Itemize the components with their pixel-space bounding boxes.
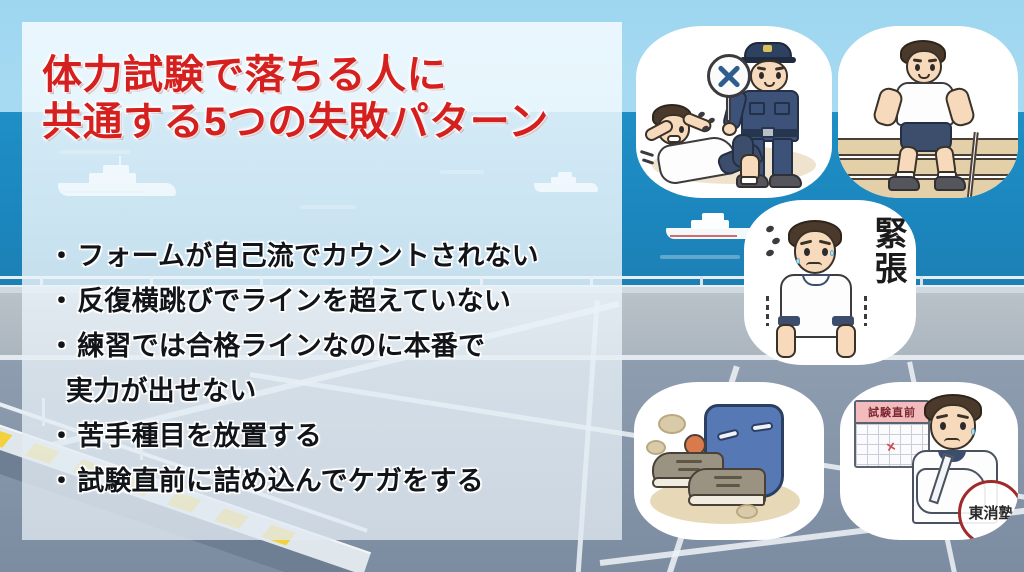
student-head [930, 404, 976, 450]
title-line-2: 共通する5つの失敗パターン [42, 99, 612, 146]
bullet-marker: ・ [48, 421, 75, 451]
sweat-drop [765, 225, 775, 234]
student-eye [940, 422, 946, 430]
officer-eye [759, 72, 764, 79]
list-item-continuation: 実力が出せない [48, 369, 628, 414]
officer-eye [776, 72, 781, 79]
uniform-pocket [774, 102, 790, 115]
bullet-marker: ・ [48, 286, 75, 316]
student-shirt [896, 82, 954, 126]
sweat-drop [765, 249, 775, 258]
gym-floor-band [838, 158, 1018, 176]
student-shoe [888, 176, 920, 191]
boat-cabin [702, 213, 723, 221]
sweat-drop [707, 117, 715, 124]
student-eye [930, 64, 935, 71]
poster-canvas: 体力試験で落ちる人に 共通する5つの失敗パターン ・フォームが自己流でカウントさ… [0, 0, 1024, 572]
page-title: 体力試験で落ちる人に 共通する5つの失敗パターン [42, 52, 612, 146]
frown-mouth [944, 438, 960, 442]
list-item-label: 練習では合格ラインなのに本番で [77, 331, 485, 361]
x-sign-handle [726, 96, 731, 122]
title-line-1: 体力試験で落ちる人に [42, 52, 612, 99]
student-eye [915, 64, 920, 71]
student-eye [960, 422, 966, 430]
illustration-card-nervous: 緊張 [744, 200, 916, 365]
belt-buckle [761, 127, 775, 138]
shiver-line [864, 296, 867, 326]
dust-puff [736, 504, 758, 519]
student-shoe [934, 176, 966, 191]
illustration-card-injury: 試験直前 ✕ 東消塾 [840, 382, 1018, 540]
shoelace [676, 460, 702, 463]
uniform-pocket [749, 102, 765, 115]
list-item-label: 苦手種目を放置する [77, 421, 322, 451]
list-item: ・試験直前に詰め込んでケガをする [48, 459, 628, 504]
student-arm [776, 324, 796, 358]
list-item-label: 試験直前に詰め込んでケガをする [77, 466, 484, 496]
illustration-card-sidestep [838, 26, 1018, 198]
illustration-card-shoes [634, 382, 824, 540]
dust-puff [646, 440, 666, 455]
list-item: ・練習では合格ラインなのに本番で [48, 324, 628, 369]
gym-floor-band [838, 178, 1018, 198]
failure-pattern-list: ・フォームが自己流でカウントされない ・反復横跳びでラインを超えていない ・練習… [48, 234, 628, 504]
sneaker-sole [688, 494, 765, 506]
motion-line [640, 150, 654, 157]
shoelace [714, 476, 742, 479]
shiver-line [766, 296, 769, 326]
bullet-marker: ・ [48, 466, 75, 496]
student-eye [822, 248, 828, 256]
mat-handle-slot [751, 422, 774, 433]
list-item-label: フォームが自己流でカウントされない [77, 241, 539, 271]
illustration-card-situps [636, 26, 832, 198]
boat-deck [691, 220, 729, 229]
hazard-chevron [0, 427, 12, 448]
sneaker-right [688, 468, 766, 506]
mat-handle-slot [716, 428, 739, 441]
police-badge-icon [763, 45, 772, 52]
list-item-label: 反復横跳びでラインを超えていない [77, 286, 511, 316]
list-item: ・フォームが自己流でカウントされない [48, 234, 628, 279]
student-eye [679, 126, 684, 133]
officer-head [750, 60, 788, 93]
sweat-drop [971, 428, 975, 435]
injury-scene: 試験直前 ✕ 東消塾 [840, 382, 1018, 540]
student-eye [804, 248, 810, 256]
sweat-drop [697, 111, 705, 118]
shoelace [716, 484, 740, 487]
bullet-marker: ・ [48, 241, 75, 271]
nervous-caption: 緊張 [870, 216, 906, 286]
list-item: ・反復横跳びでラインを超えていない [48, 279, 628, 324]
nervous-scene: 緊張 [744, 200, 916, 365]
frown-mouth [806, 262, 822, 266]
officer-hand [722, 122, 737, 136]
sweat-drop [830, 250, 834, 256]
list-item-label: 実力が出せない [66, 376, 256, 406]
dust-puff [658, 414, 686, 434]
student-sock [740, 176, 758, 185]
officer-shoe [769, 174, 802, 188]
situps-scene [636, 26, 832, 198]
sidestep-scene [838, 26, 1018, 198]
brand-stamp: 東消塾 [958, 480, 1018, 540]
text-overlay-panel: 体力試験で落ちる人に 共通する5つの失敗パターン ・フォームが自己流でカウントさ… [22, 22, 622, 540]
sweat-drop [771, 237, 781, 246]
boat-stripe [670, 235, 737, 237]
bullet-marker: ・ [48, 331, 75, 361]
list-item: ・苦手種目を放置する [48, 414, 628, 459]
motion-line [642, 158, 654, 165]
shoes-scene [634, 382, 824, 540]
calendar-title: 試験直前 [856, 402, 928, 424]
x-sign-icon [707, 54, 751, 98]
water-shimmer [660, 255, 740, 259]
student-arm [836, 324, 856, 358]
sweat-drop [796, 258, 800, 264]
